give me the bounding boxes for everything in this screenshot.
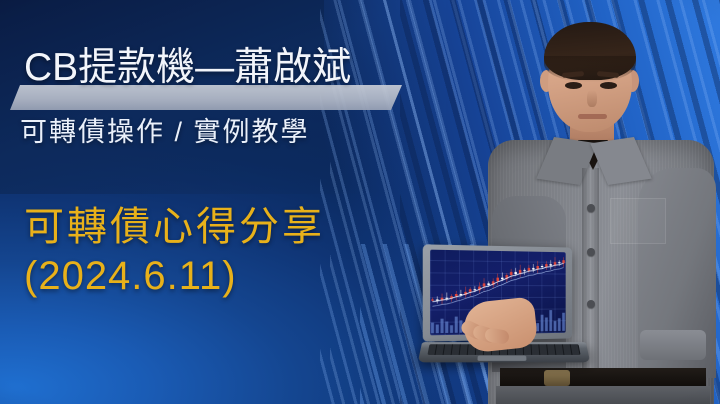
video-thumbnail: CB提款機—蕭啟斌 可轉債操作 / 實例教學 可轉債心得分享 (2024.6.1… (0, 0, 720, 404)
vignette-overlay (0, 0, 720, 404)
trackpad[interactable] (477, 356, 526, 361)
